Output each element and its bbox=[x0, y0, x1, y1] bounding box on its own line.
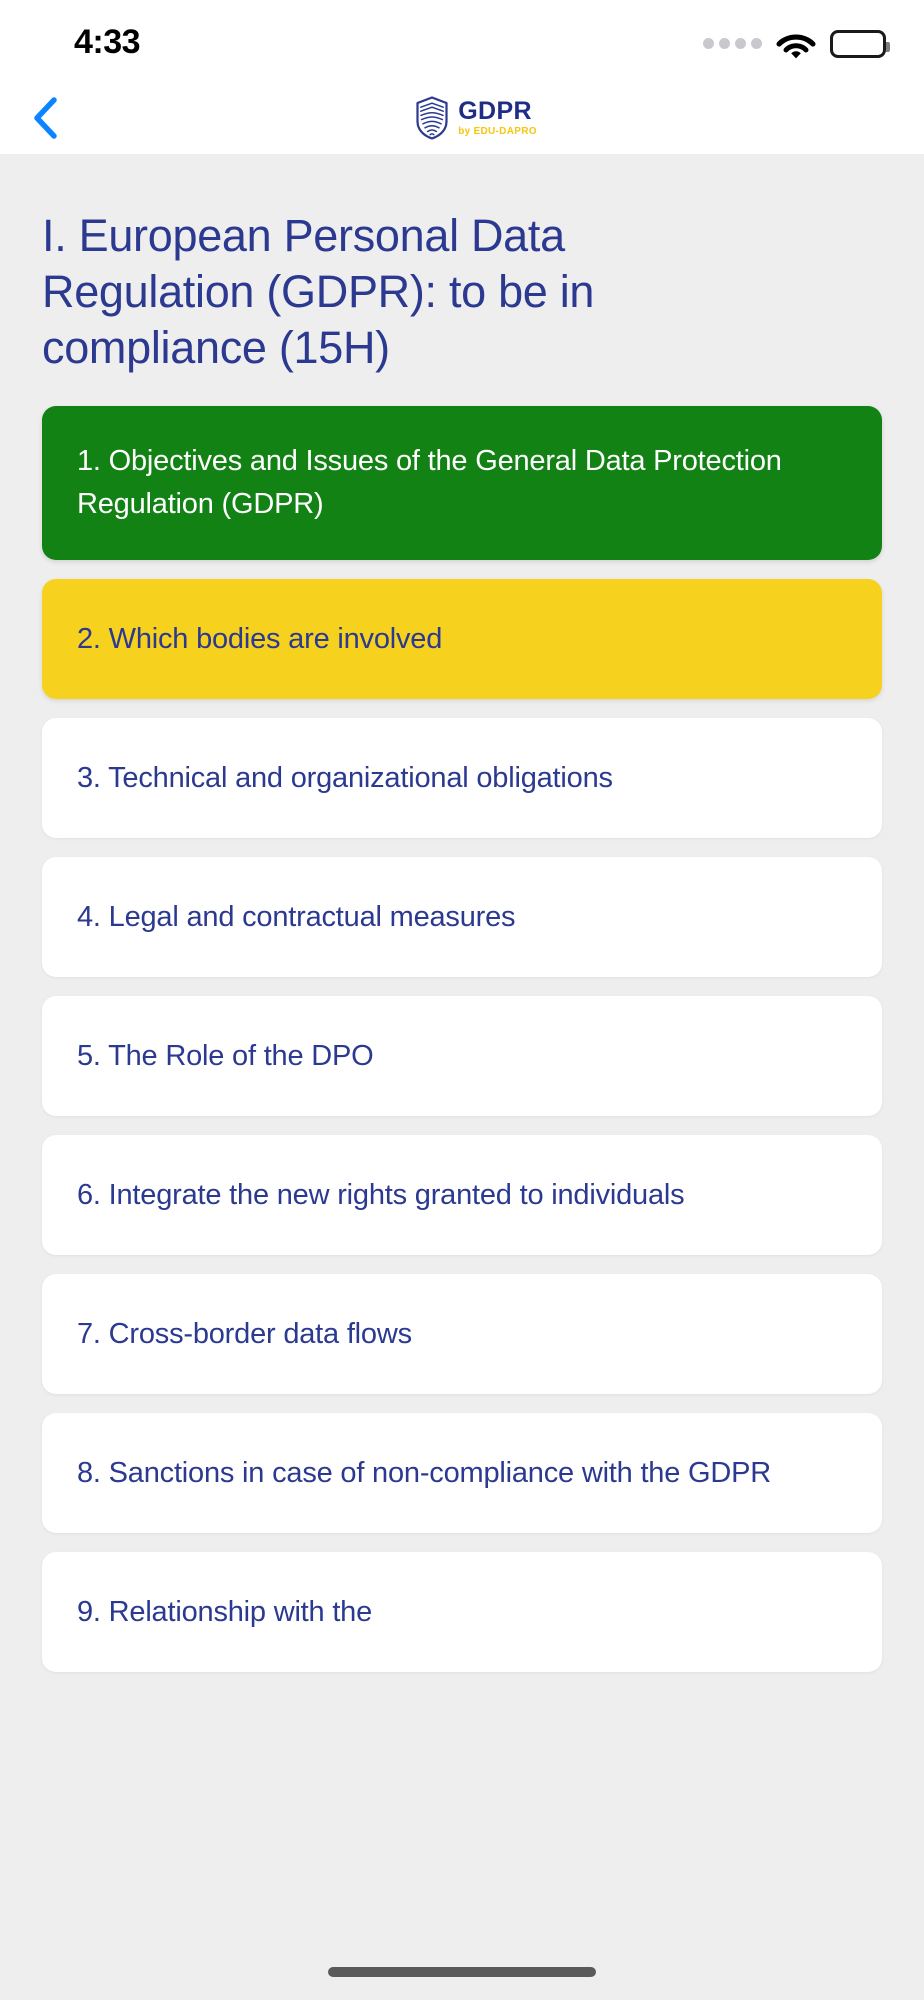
module-card[interactable]: 4. Legal and contractual measures bbox=[42, 857, 882, 977]
module-card[interactable]: 3. Technical and organizational obligati… bbox=[42, 718, 882, 838]
module-card[interactable]: 1. Objectives and Issues of the General … bbox=[42, 406, 882, 560]
content-scroll-area[interactable]: I. European Personal Data Regulation (GD… bbox=[0, 154, 924, 2000]
module-card[interactable]: 9. Relationship with the bbox=[42, 1552, 882, 1672]
status-bar-indicators bbox=[703, 26, 886, 62]
back-button[interactable] bbox=[14, 82, 76, 154]
module-card-label: 1. Objectives and Issues of the General … bbox=[77, 440, 847, 526]
module-card-label: 8. Sanctions in case of non-compliance w… bbox=[77, 1452, 771, 1495]
brand-wordmark: GDPR by EDU-DAPRO bbox=[458, 99, 537, 137]
status-bar: 4:33 bbox=[0, 0, 924, 82]
module-card[interactable]: 2. Which bodies are involved bbox=[42, 579, 882, 699]
module-card-label: 9. Relationship with the bbox=[77, 1591, 372, 1634]
module-card[interactable]: 6. Integrate the new rights granted to i… bbox=[42, 1135, 882, 1255]
battery-full-icon bbox=[830, 30, 886, 58]
brand-tagline: by EDU-DAPRO bbox=[458, 127, 537, 137]
module-card-label: 6. Integrate the new rights granted to i… bbox=[77, 1174, 684, 1217]
app-screen: 4:33 bbox=[0, 0, 924, 2000]
module-card[interactable]: 7. Cross-border data flows bbox=[42, 1274, 882, 1394]
brand-name: GDPR bbox=[458, 99, 537, 124]
module-card-label: 2. Which bodies are involved bbox=[77, 618, 442, 661]
module-card[interactable]: 5. The Role of the DPO bbox=[42, 996, 882, 1116]
module-list: 1. Objectives and Issues of the General … bbox=[42, 382, 882, 1672]
module-card-label: 3. Technical and organizational obligati… bbox=[77, 757, 613, 800]
chevron-left-icon bbox=[32, 97, 58, 139]
module-card[interactable]: 8. Sanctions in case of non-compliance w… bbox=[42, 1413, 882, 1533]
shield-fingerprint-icon bbox=[415, 96, 449, 140]
module-card-label: 7. Cross-border data flows bbox=[77, 1313, 412, 1356]
home-indicator-area bbox=[0, 1944, 924, 2000]
home-indicator[interactable] bbox=[328, 1967, 596, 1977]
module-card-label: 4. Legal and contractual measures bbox=[77, 896, 515, 939]
gdpr-logo: GDPR by EDU-DAPRO bbox=[415, 96, 537, 140]
module-card-label: 5. The Role of the DPO bbox=[77, 1035, 374, 1078]
navigation-bar: GDPR by EDU-DAPRO bbox=[0, 82, 924, 154]
page-title: I. European Personal Data Regulation (GD… bbox=[42, 154, 672, 382]
status-bar-clock: 4:33 bbox=[74, 22, 140, 62]
wifi-icon bbox=[776, 29, 816, 59]
signal-dots-icon bbox=[703, 38, 762, 51]
